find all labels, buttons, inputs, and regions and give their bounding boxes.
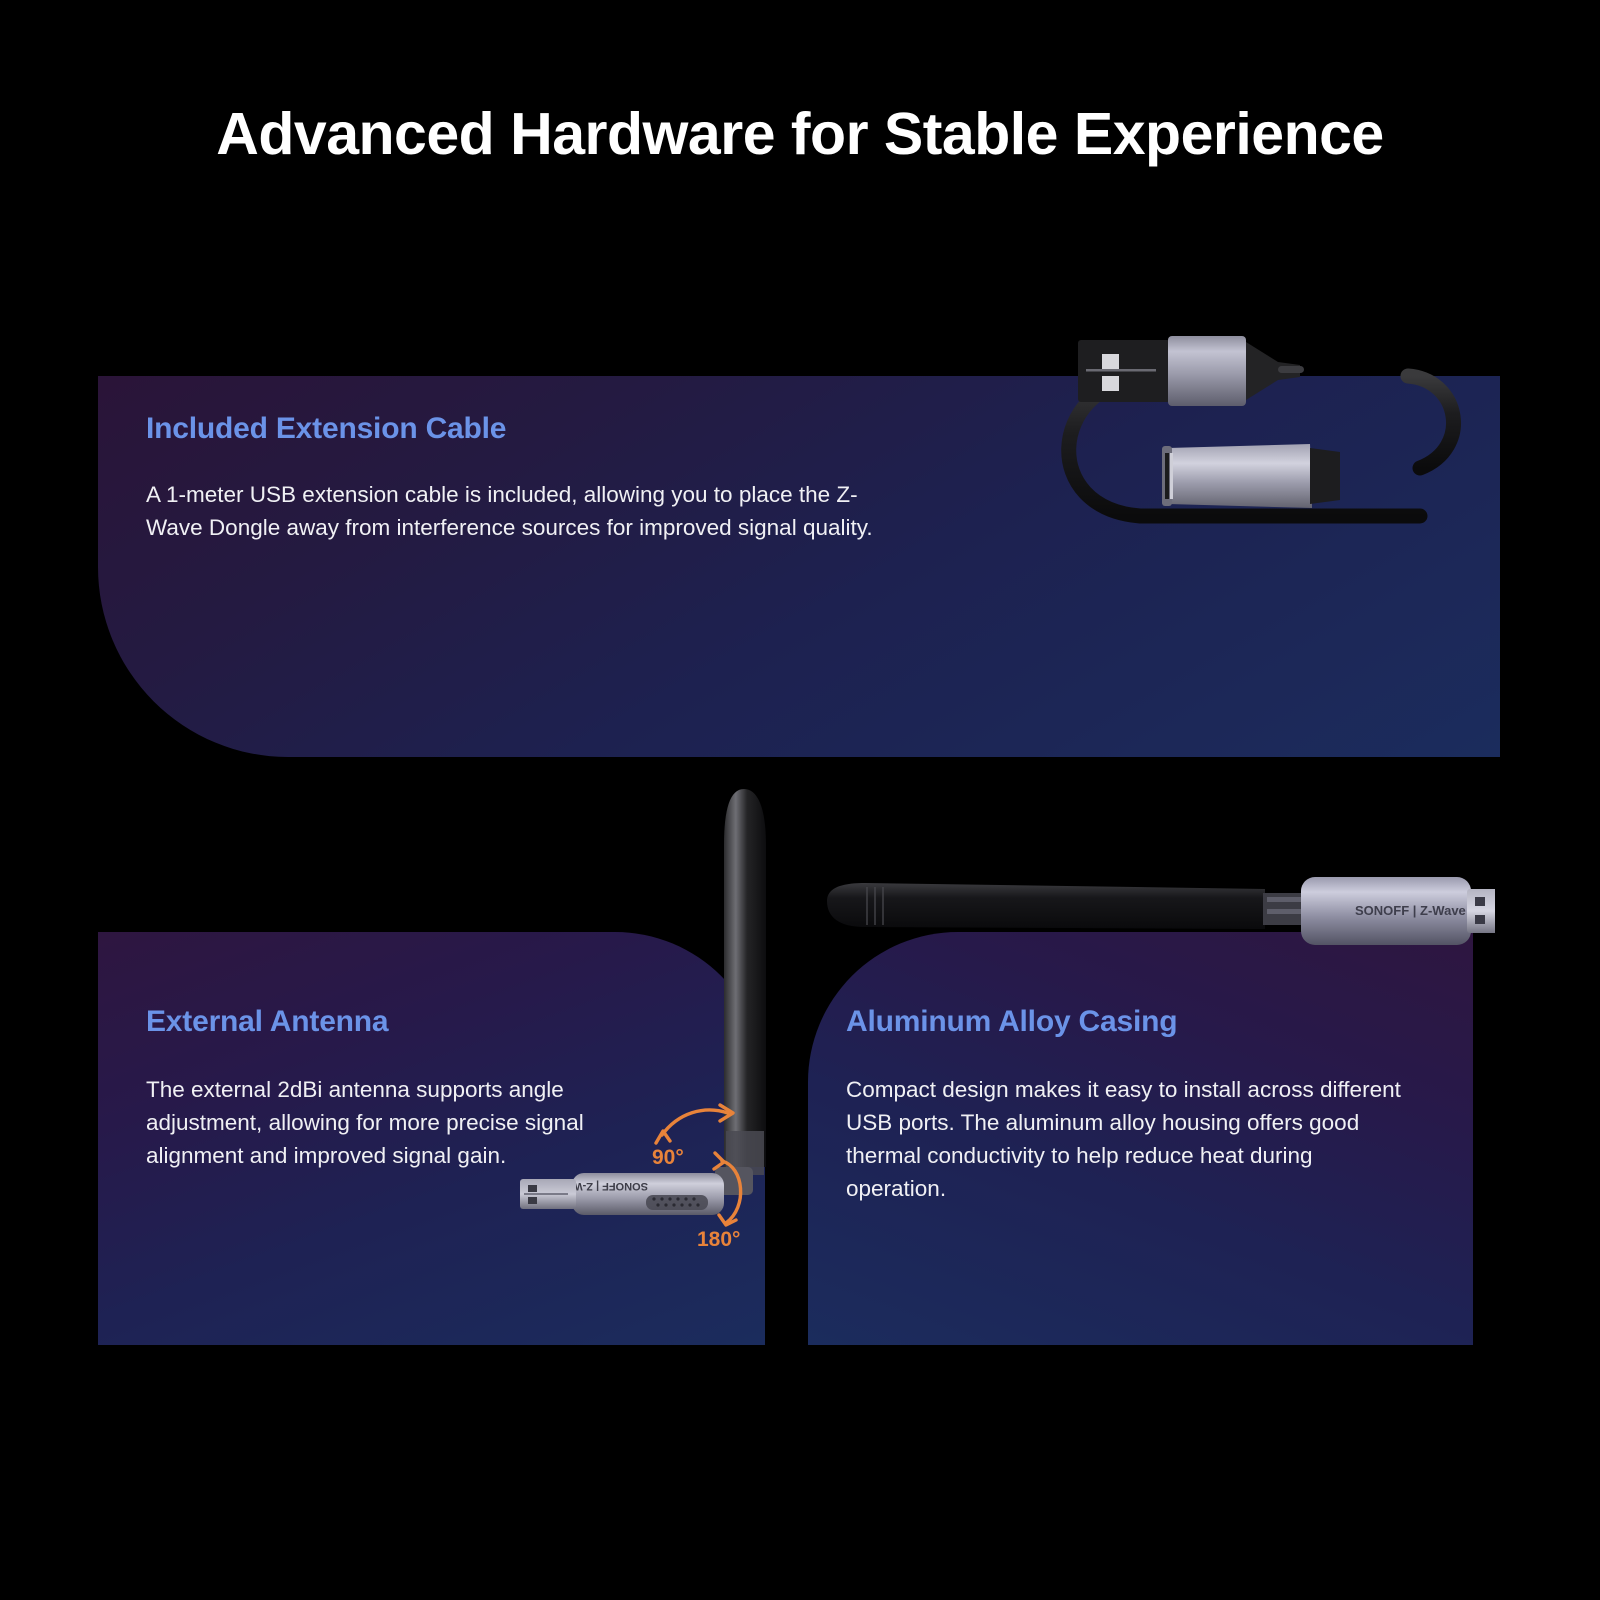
- card-body-extension-cable: A 1-meter USB extension cable is include…: [146, 478, 906, 544]
- card-title-aluminum-alloy: Aluminum Alloy Casing: [846, 1005, 1473, 1039]
- feature-card-aluminum-alloy: Aluminum Alloy Casing Compact design mak…: [808, 932, 1473, 1345]
- angle-180-label: 180°: [697, 1228, 740, 1252]
- page-title: Advanced Hardware for Stable Experience: [0, 100, 1600, 168]
- zwave-dongle-horizontal-photo: SONOFF | Z-Wave: [795, 855, 1495, 965]
- card-body-aluminum-alloy: Compact design makes it easy to install …: [846, 1073, 1406, 1205]
- zwave-dongle-antenna-photo: SONOFF | Z-Wave: [500, 775, 800, 1245]
- dongle-brand-label: SONOFF | Z-Wave: [1355, 903, 1466, 918]
- angle-90-label: 90°: [652, 1146, 684, 1170]
- usb-extension-cable-photo: [1020, 318, 1490, 548]
